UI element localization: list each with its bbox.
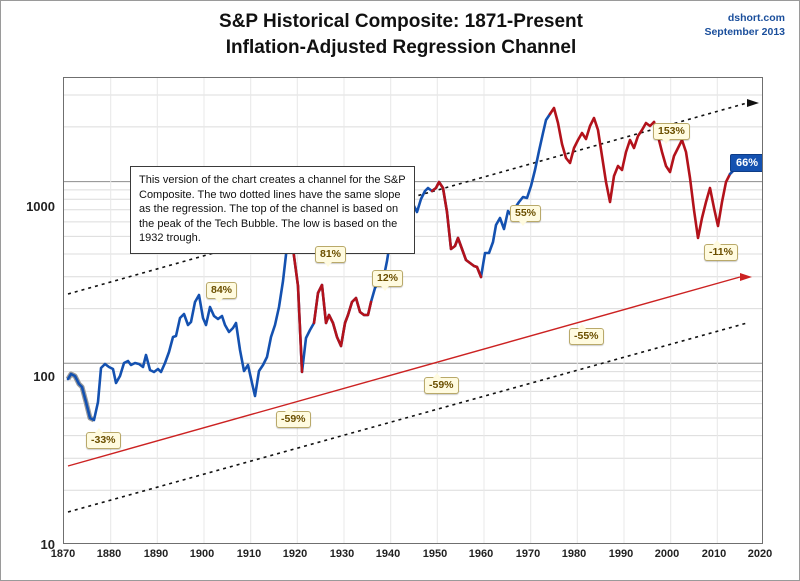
callout-label: -33% xyxy=(91,434,116,446)
callout-55-percent: 55% xyxy=(510,205,541,222)
callout--59-percent-1949: -59% xyxy=(424,377,459,394)
callout-12-percent: 12% xyxy=(372,270,403,287)
callout-81-percent: 81% xyxy=(315,246,346,263)
x-axis-tick-2000: 2000 xyxy=(647,548,687,560)
x-axis-tick-1880: 1880 xyxy=(89,548,129,560)
x-axis-tick-1920: 1920 xyxy=(275,548,315,560)
callout--59-percent-1920: -59% xyxy=(276,411,311,428)
callout-label: 55% xyxy=(515,207,536,219)
callout-label: -11% xyxy=(709,246,733,258)
credit-block: dshort.com September 2013 xyxy=(704,11,785,39)
x-axis-tick-1910: 1910 xyxy=(229,548,269,560)
plot-area: This version of the chart creates a chan… xyxy=(63,77,763,544)
x-axis-tick-1890: 1890 xyxy=(136,548,176,560)
x-axis-tick-2010: 2010 xyxy=(694,548,734,560)
title-line-1: S&P Historical Composite: 1871-Present xyxy=(1,9,800,35)
x-axis-tick-1940: 1940 xyxy=(368,548,408,560)
x-axis-tick-1980: 1980 xyxy=(554,548,594,560)
x-axis-tick-1870: 1870 xyxy=(43,548,83,560)
callout--11-percent: -11% xyxy=(704,244,738,261)
y-axis-tick-100: 100 xyxy=(9,369,55,384)
callout-label: 153% xyxy=(658,125,685,137)
callout--33-percent: -33% xyxy=(86,432,121,449)
y-axis-tick-1000: 1000 xyxy=(9,199,55,214)
callout-label: 12% xyxy=(377,272,398,284)
x-axis-tick-2020: 2020 xyxy=(740,548,780,560)
upper-channel-arrowhead xyxy=(747,99,759,107)
title-line-2: Inflation-Adjusted Regression Channel xyxy=(1,35,800,61)
x-axis-tick-1930: 1930 xyxy=(322,548,362,560)
annotation-note-text: This version of the chart creates a chan… xyxy=(139,174,405,244)
callout-label: 81% xyxy=(320,248,341,260)
chart-canvas xyxy=(64,78,763,544)
regression-arrowhead xyxy=(740,273,752,281)
gridlines-minor xyxy=(64,95,763,490)
callout--55-percent: -55% xyxy=(569,328,604,345)
credit-site: dshort.com xyxy=(704,11,785,25)
credit-date: September 2013 xyxy=(704,25,785,39)
callout-label: 84% xyxy=(211,284,232,296)
callout-label: -59% xyxy=(281,413,306,425)
callout-label: -55% xyxy=(574,330,599,342)
page-title: S&P Historical Composite: 1871-Present I… xyxy=(1,9,800,61)
x-axis-tick-1950: 1950 xyxy=(415,548,455,560)
callout-153-percent: 153% xyxy=(653,123,690,140)
x-axis-tick-1970: 1970 xyxy=(508,548,548,560)
x-axis-tick-1900: 1900 xyxy=(182,548,222,560)
x-axis-tick-1960: 1960 xyxy=(461,548,501,560)
x-axis-tick-1990: 1990 xyxy=(601,548,641,560)
current-value-badge: 66% xyxy=(730,154,763,172)
callout-84-percent: 84% xyxy=(206,282,237,299)
chart-frame: S&P Historical Composite: 1871-Present I… xyxy=(0,0,800,581)
callout-label: -59% xyxy=(429,379,454,391)
annotation-note: This version of the chart creates a chan… xyxy=(130,166,415,254)
